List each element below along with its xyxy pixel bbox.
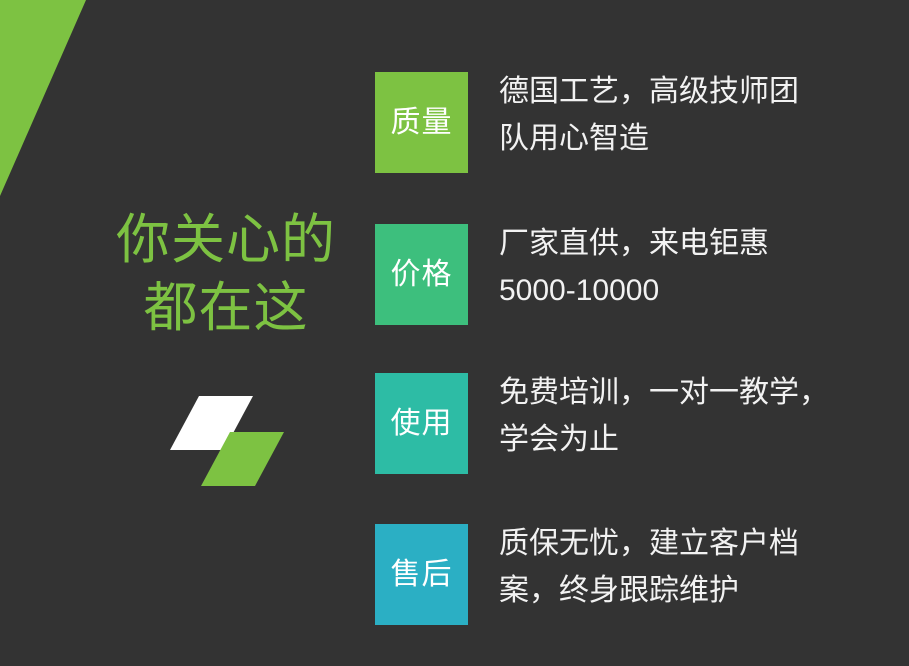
feature-description-line-2: 案，终身跟踪维护	[499, 567, 899, 614]
feature-row: 售后 质保无忧，建立客户档 案，终身跟踪维护	[375, 524, 895, 625]
feature-row: 质量 德国工艺，高级技师团 队用心智造	[375, 72, 895, 173]
feature-badge-quality[interactable]: 质量	[375, 72, 468, 173]
page-title-line-2: 都在这	[80, 274, 372, 342]
feature-badge-aftersales[interactable]: 售后	[375, 524, 468, 625]
green-corner-wedge-icon	[0, 0, 90, 196]
feature-description-line-1: 厂家直供，来电钜惠	[499, 220, 899, 267]
slide-canvas: 你关心的 都在这 质量 德国工艺，高级技师团 队用心智造 价格 厂家直供，来电钜…	[0, 0, 909, 666]
page-title-line-1: 你关心的	[80, 206, 372, 274]
feature-description-quality: 德国工艺，高级技师团 队用心智造	[499, 68, 899, 162]
logo-icon	[168, 386, 286, 494]
feature-description-line-1: 质保无忧，建立客户档	[499, 520, 899, 567]
page-title: 你关心的 都在这	[80, 206, 372, 342]
feature-badge-usage[interactable]: 使用	[375, 373, 468, 474]
feature-description-line-2: 学会为止	[499, 416, 899, 463]
feature-description-line-1: 德国工艺，高级技师团	[499, 68, 899, 115]
feature-row: 使用 免费培训，一对一教学， 学会为止	[375, 373, 895, 474]
feature-description-usage: 免费培训，一对一教学， 学会为止	[499, 369, 899, 463]
feature-badge-price[interactable]: 价格	[375, 224, 468, 325]
feature-description-line-2: 5000-10000	[499, 267, 899, 314]
feature-description-line-1: 免费培训，一对一教学，	[499, 369, 899, 416]
feature-description-price: 厂家直供，来电钜惠 5000-10000	[499, 220, 899, 314]
feature-description-aftersales: 质保无忧，建立客户档 案，终身跟踪维护	[499, 520, 899, 614]
feature-description-line-2: 队用心智造	[499, 115, 899, 162]
corner-wedge-shape	[0, 0, 86, 196]
feature-row: 价格 厂家直供，来电钜惠 5000-10000	[375, 224, 895, 325]
